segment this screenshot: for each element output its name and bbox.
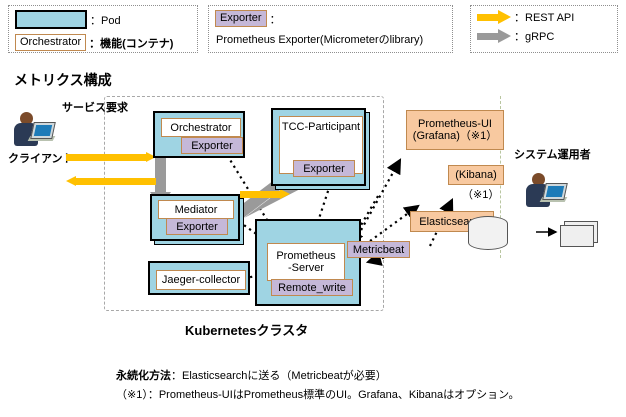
client-label: クライアント xyxy=(8,150,74,166)
stacked-documents-icon xyxy=(560,225,594,247)
note-line-1: 永続化方法：Elasticsearchに送る（Metricbeatが必要） xyxy=(116,366,387,384)
exporter-remote-write[interactable]: Remote_write xyxy=(271,279,353,296)
legend-exporter-colon: ： xyxy=(270,11,281,27)
service-request-label: サービス要求 xyxy=(62,99,128,115)
legend-pod-label: ：Pod xyxy=(90,12,121,28)
rest-api-arrow-icon xyxy=(477,10,511,24)
exporter-tcc-participant[interactable]: Exporter xyxy=(293,160,355,177)
legend-row-pod: ：Pod xyxy=(15,10,191,29)
laptop-screen-icon xyxy=(34,125,52,136)
client-avatar xyxy=(12,112,54,146)
function-sample-box: Orchestrator xyxy=(15,34,86,51)
cluster-label: Kubernetesクラスタ xyxy=(185,320,308,339)
function-orchestrator[interactable]: Orchestrator xyxy=(161,118,241,137)
legend-rest-label: ：REST API xyxy=(514,9,574,25)
laptop-icon xyxy=(542,183,568,200)
exporter-sample-box: Exporter xyxy=(215,10,267,27)
legend-exporter-desc: Prometheus Exporter(Micrometerのlibrary) xyxy=(216,31,446,47)
kibana-note: （※1） xyxy=(462,186,499,202)
legend-row-rest: ：REST API xyxy=(477,9,611,25)
exporter-mediator[interactable]: Exporter xyxy=(166,218,228,235)
legend-function-label: ：機能(コンテナ) xyxy=(89,35,173,51)
pod-tcc-participant[interactable]: TCC-Participant Exporter xyxy=(271,108,366,186)
prometheus-ui-line1: Prometheus-UI xyxy=(418,118,492,130)
pod-color-swatch xyxy=(15,10,87,29)
operator-label: システム運用者 xyxy=(514,146,591,162)
note-1-bold: 永続化方法 xyxy=(116,370,171,382)
laptop-icon xyxy=(30,122,56,139)
function-mediator[interactable]: Mediator xyxy=(158,200,234,219)
grpc-arrow-icon xyxy=(477,29,511,43)
external-prometheus-ui[interactable]: Prometheus-UI (Grafana)（※1） xyxy=(406,110,504,150)
exporter-orchestrator[interactable]: Exporter xyxy=(181,137,243,154)
pod-prometheus[interactable]: Prometheus -Server Remote_write xyxy=(255,219,361,306)
rest-arrow-client-to-orchestrator xyxy=(66,152,156,163)
external-kibana[interactable]: (Kibana) xyxy=(448,165,504,185)
function-jaeger-collector[interactable]: Jaeger-collector xyxy=(156,270,246,290)
laptop-screen-icon xyxy=(546,186,564,197)
prometheus-ui-line2: (Grafana)（※1） xyxy=(413,130,497,142)
rest-arrow-orchestrator-to-client xyxy=(66,176,156,187)
pod-jaeger-collector[interactable]: Jaeger-collector xyxy=(148,261,250,295)
page-title: メトリクス構成 xyxy=(14,70,112,90)
legend-exporter: Exporter ： Prometheus Exporter(Micromete… xyxy=(208,5,453,53)
pod-mediator[interactable]: Mediator Exporter xyxy=(150,194,240,241)
pod-orchestrator[interactable]: Orchestrator Exporter xyxy=(153,111,245,158)
legend-row-grpc: ：gRPC xyxy=(477,28,611,44)
legend-row-function: Orchestrator ：機能(コンテナ) xyxy=(15,34,191,51)
database-cylinder-icon xyxy=(468,216,508,250)
legend-grpc-label: ：gRPC xyxy=(514,28,554,44)
exporter-metricbeat[interactable]: Metricbeat xyxy=(347,241,410,258)
function-prometheus-server[interactable]: Prometheus -Server xyxy=(267,243,345,281)
rest-arrow-orchestrator-to-tcc xyxy=(240,189,290,200)
prometheus-server-line1: Prometheus xyxy=(276,250,335,262)
legend-pod-function: ：Pod Orchestrator ：機能(コンテナ) xyxy=(8,5,198,53)
operator-avatar xyxy=(524,173,566,207)
note-1-rest: ：Elasticsearchに送る（Metricbeatが必要） xyxy=(171,370,387,382)
legend-arrows: ：REST API ：gRPC xyxy=(470,5,618,53)
prometheus-server-line2: -Server xyxy=(288,262,324,274)
note-line-2: （※1）：Prometheus-UIはPrometheus標準のUI。Grafa… xyxy=(116,386,519,402)
legend-row-exporter: Exporter ： xyxy=(215,10,446,27)
